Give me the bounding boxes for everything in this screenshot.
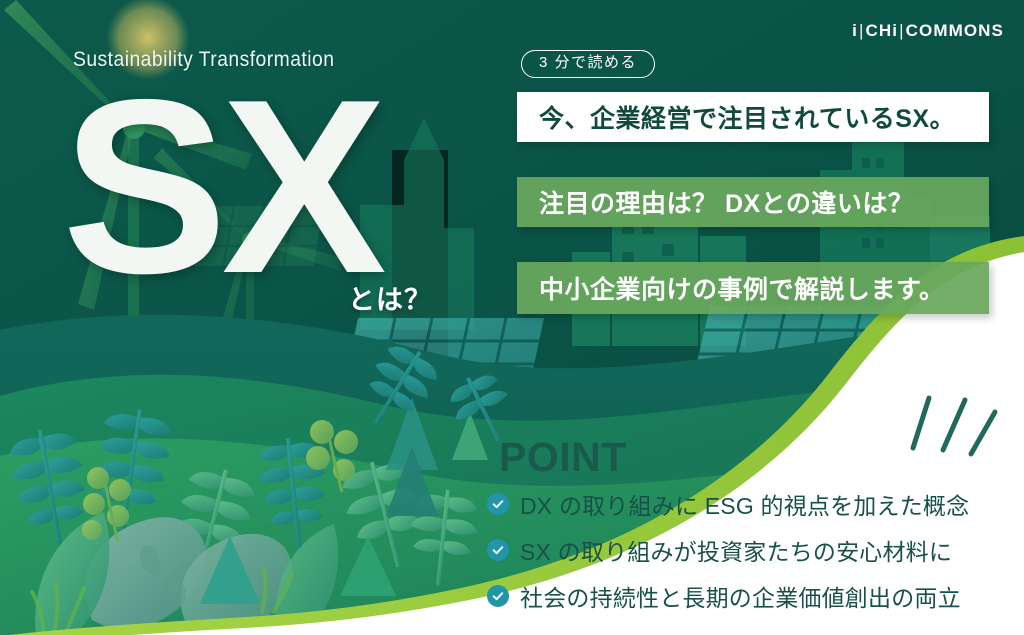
logo-pipe-2: | bbox=[899, 22, 905, 39]
point-title: POINT bbox=[499, 434, 627, 481]
list-item: 社会の持続性と長期の企業価値創出の両立 bbox=[487, 575, 997, 617]
logo-text-i1: i bbox=[852, 22, 858, 39]
diagonal-slashes-icon bbox=[895, 390, 1005, 460]
point-item-label: 社会の持続性と長期の企業価値創出の両立 bbox=[520, 579, 961, 613]
headline-bar-3: 中小企業向けの事例で解説します。 bbox=[517, 262, 989, 314]
headline-bar-1: 今、企業経営で注目されているSX。 bbox=[517, 92, 989, 142]
headline-bar-2: 注目の理由は？ DXとの違いは？ bbox=[517, 177, 989, 227]
point-item-label: SX の取り組みが投資家たちの安心材料に bbox=[520, 533, 952, 567]
logo-text-ch: CH bbox=[866, 22, 893, 39]
logo-pipe-1: | bbox=[859, 22, 865, 39]
point-item-label: DX の取り組みに ESG 的視点を加えた概念 bbox=[520, 487, 969, 521]
hero-title-sx: SX bbox=[62, 62, 381, 310]
hero-suffix-toha: とは？ bbox=[348, 278, 432, 317]
check-circle-icon bbox=[487, 585, 509, 607]
logo-text-commons: COMMONS bbox=[906, 22, 1004, 39]
list-item: SX の取り組みが投資家たちの安心材料に bbox=[487, 529, 997, 571]
check-circle-icon bbox=[487, 493, 509, 515]
logo-text-i2: i bbox=[892, 22, 898, 39]
read-time-badge: 3 分で読める bbox=[521, 50, 655, 78]
brand-logo[interactable]: i|CHi|COMMONS bbox=[852, 22, 1004, 39]
poster-canvas: i|CHi|COMMONS Sustainability Transformat… bbox=[0, 0, 1024, 635]
point-list: DX の取り組みに ESG 的視点を加えた概念 SX の取り組みが投資家たちの安… bbox=[487, 483, 997, 621]
list-item: DX の取り組みに ESG 的視点を加えた概念 bbox=[487, 483, 997, 525]
check-circle-icon bbox=[487, 539, 509, 561]
